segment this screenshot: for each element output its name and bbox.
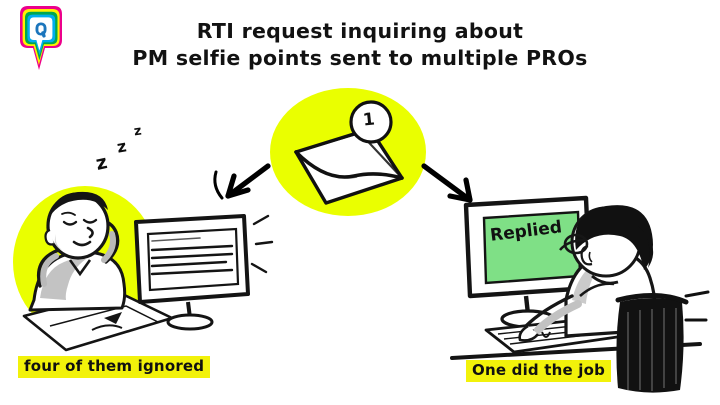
caption-left: four of them ignored <box>18 356 210 378</box>
left-scene <box>13 186 272 350</box>
badge-count: 1 <box>362 109 376 130</box>
caption-right: One did the job <box>466 360 611 382</box>
the-quint-logo[interactable] <box>20 6 62 70</box>
illustration-canvas: RTI request inquiring about PM selfie po… <box>0 0 720 405</box>
office-chair <box>616 292 708 393</box>
arrow-to-left-scene <box>215 166 268 198</box>
page-title: RTI request inquiring about PM selfie po… <box>130 18 590 71</box>
title-line-2: PM selfie points sent to multiple PROs <box>130 45 590 72</box>
title-line-1: RTI request inquiring about <box>130 18 590 45</box>
arrow-to-right-scene <box>424 166 470 200</box>
